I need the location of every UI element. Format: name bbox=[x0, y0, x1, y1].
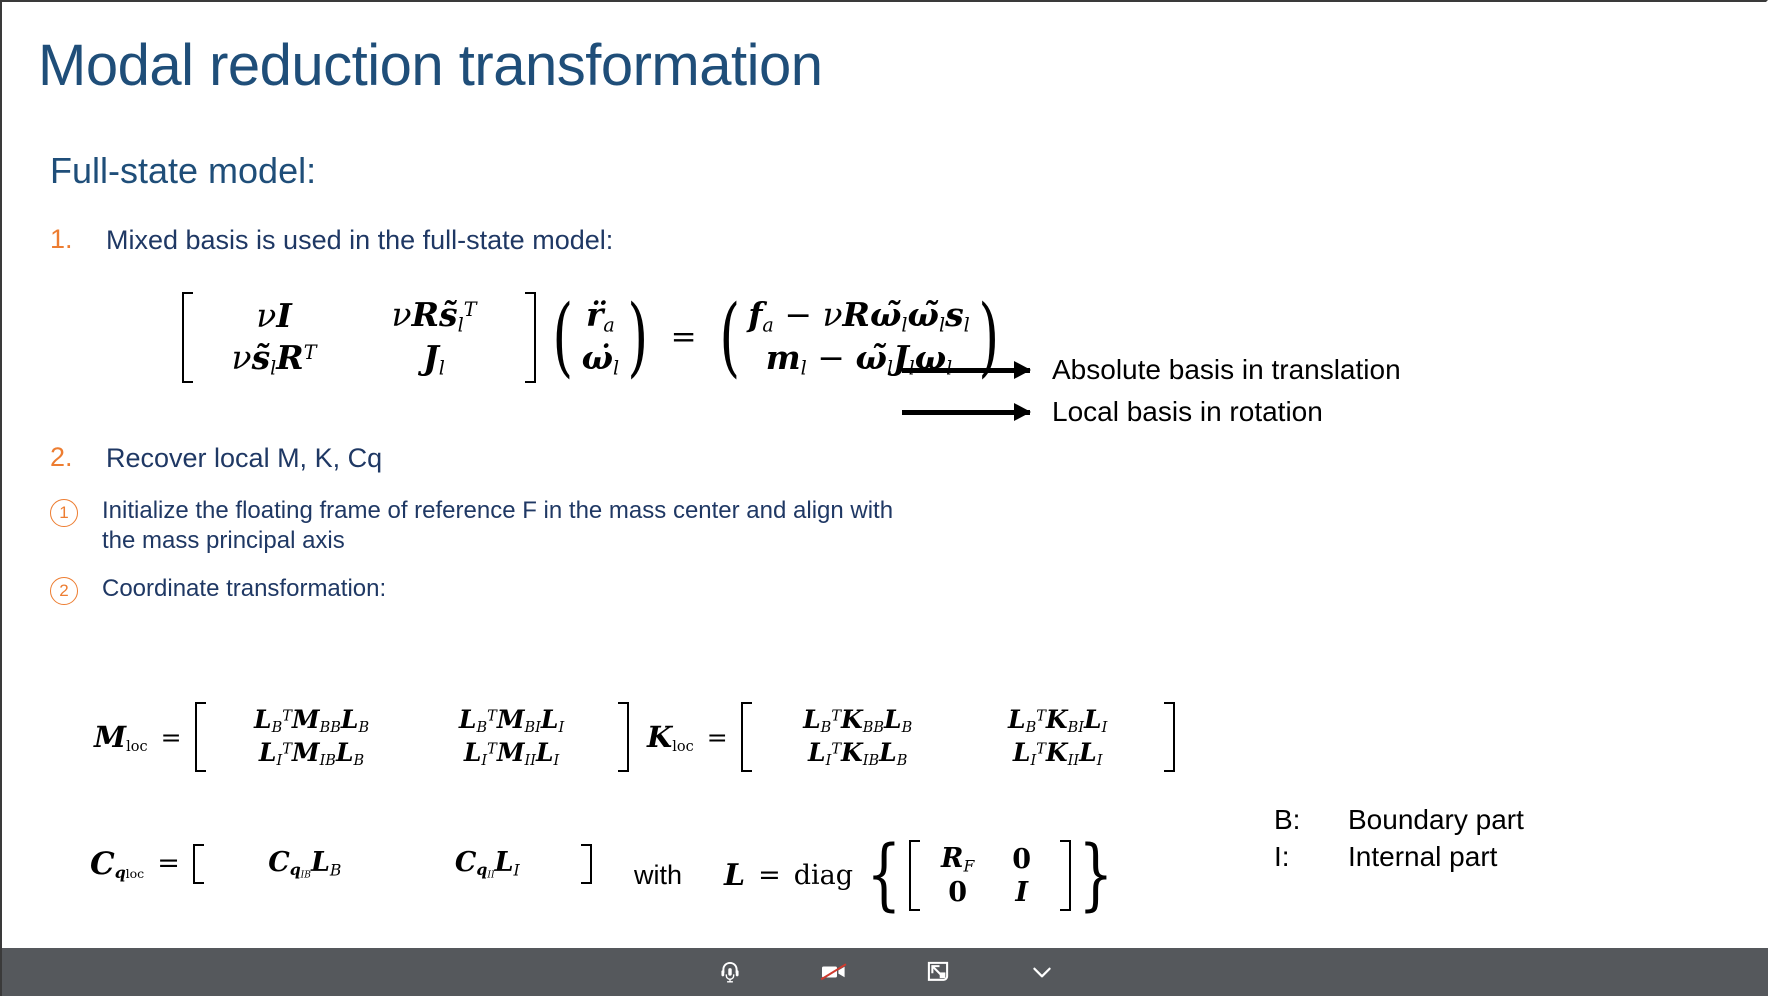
l-cell-01: 0 bbox=[990, 843, 1054, 876]
brace-right: } bbox=[1078, 844, 1113, 906]
presentation-slide: Modal reduction transformation Full-stat… bbox=[0, 0, 1768, 996]
k-equals-sign: = bbox=[707, 723, 728, 752]
bullet-item-2: 2. Recover local M, K, Cq bbox=[50, 442, 382, 475]
callout-label-1: Absolute basis in translation bbox=[1052, 354, 1401, 386]
matrix-cell-10: νs̃lRT bbox=[199, 337, 349, 380]
constraint-matrix-equation: Cqloc = CqIBLB CqIILI bbox=[90, 844, 592, 884]
m-cell-10: LITMIBLB bbox=[212, 737, 412, 770]
legend-key-b: B: bbox=[1274, 802, 1348, 839]
legend-key-i: I: bbox=[1274, 839, 1348, 876]
stiffness-matrix-equation: Kloc = LBTKBBLB LBTKBILI LITKIBLB bbox=[647, 702, 1175, 772]
main-equation: νI νRs̃lT νs̃lRT Jl ( bbox=[182, 292, 1005, 383]
bullet-item-1: 1. Mixed basis is used in the full-state… bbox=[50, 224, 613, 257]
matrix-cell-01: νRs̃lT bbox=[349, 294, 519, 337]
m-matrix: LBTMBBLB LBTMBILI LITMIBLB LITMIILI bbox=[195, 702, 629, 772]
sub-bullet-item-2: 2 Coordinate transformation: bbox=[50, 574, 386, 605]
bracket-left bbox=[193, 844, 204, 884]
legend-value-b: Boundary part bbox=[1348, 802, 1524, 839]
k-matrix: LBTKBBLB LBTKBILI LITKIBLB LITKIILI bbox=[741, 702, 1175, 772]
k-cell-00: LBTKBBLB bbox=[758, 704, 958, 737]
bracket-left bbox=[909, 840, 920, 911]
sub-bullet-text-1: Initialize the floating frame of referen… bbox=[102, 496, 932, 556]
sub-bullet-item-1: 1 Initialize the floating frame of refer… bbox=[50, 496, 932, 556]
paren-left-rhs: ( bbox=[719, 294, 740, 381]
bullet-text-1: Mixed basis is used in the full-state mo… bbox=[106, 224, 613, 257]
cq-equals-sign: = bbox=[157, 848, 180, 879]
l-cell-10: 0 bbox=[926, 876, 990, 909]
rhs-cell-0: fa − νRω̃lω̃lsl bbox=[748, 294, 970, 337]
section-heading: Full-state model: bbox=[50, 150, 316, 192]
circled-number-1: 1 bbox=[50, 496, 102, 527]
chevron-down-icon[interactable] bbox=[1019, 954, 1065, 990]
bracket-left bbox=[741, 702, 752, 772]
callout-label-2: Local basis in rotation bbox=[1052, 396, 1323, 428]
cq-matrix: CqIBLB CqIILI bbox=[193, 844, 592, 884]
cq-loc-symbol: Cqloc bbox=[90, 846, 144, 882]
m-cell-00: LBTMBBLB bbox=[212, 704, 412, 737]
headset-mic-icon[interactable] bbox=[707, 954, 753, 990]
l-definition: L = diag { RF 0 0 I } bbox=[724, 840, 1120, 911]
l-matrix: RF 0 0 I bbox=[909, 840, 1071, 911]
callout-arrow-row-2: Local basis in rotation bbox=[902, 396, 1323, 428]
paren-right: ) bbox=[627, 294, 648, 381]
m-cell-01: LBTMBILI bbox=[412, 704, 612, 737]
brace-left: { bbox=[866, 844, 901, 906]
circled-number-1-glyph: 1 bbox=[50, 499, 78, 527]
right-arrow-icon bbox=[902, 368, 1030, 373]
legend: B: Boundary part I: Internal part bbox=[1274, 802, 1524, 876]
equals-sign: = bbox=[671, 319, 697, 355]
acceleration-vector: ( r̈a ω̇l ) bbox=[546, 294, 655, 381]
restore-window-icon[interactable] bbox=[915, 954, 961, 990]
bracket-right bbox=[525, 292, 536, 383]
bullet-text-2: Recover local M, K, Cq bbox=[106, 442, 382, 475]
bracket-right bbox=[1060, 840, 1071, 911]
bullet-number-1: 1. bbox=[50, 224, 106, 255]
paren-left: ( bbox=[552, 294, 573, 381]
k-cell-01: LBTKBILI bbox=[958, 704, 1158, 737]
bullet-number-2: 2. bbox=[50, 442, 106, 473]
cq-cell-0: CqIBLB bbox=[210, 846, 400, 882]
matrix-cell-00: νI bbox=[199, 295, 349, 336]
k-cell-10: LITKIBLB bbox=[758, 737, 958, 770]
k-cell-11: LITKIILI bbox=[958, 737, 1158, 770]
camera-off-icon[interactable] bbox=[811, 954, 857, 990]
sub-bullet-text-2: Coordinate transformation: bbox=[102, 574, 386, 604]
circled-number-2: 2 bbox=[50, 574, 102, 605]
callout-arrow-row-1: Absolute basis in translation bbox=[902, 354, 1401, 386]
with-label: with bbox=[634, 860, 682, 891]
meeting-toolbar bbox=[2, 948, 1768, 996]
coefficient-matrix: νI νRs̃lT νs̃lRT Jl bbox=[182, 292, 536, 383]
vector-cell-1: ω̇l bbox=[582, 337, 620, 380]
bracket-left bbox=[182, 292, 193, 383]
bracket-right bbox=[581, 844, 592, 884]
m-equals-sign: = bbox=[161, 723, 182, 752]
mass-matrix-equation: Mloc = LBTMBBLB LBTMBILI LITMIBLB bbox=[94, 702, 629, 772]
bracket-left bbox=[195, 702, 206, 772]
page-title: Modal reduction transformation bbox=[38, 32, 823, 99]
legend-value-i: Internal part bbox=[1348, 839, 1497, 876]
k-loc-symbol: Kloc bbox=[647, 720, 694, 755]
l-equals-sign: = bbox=[758, 860, 781, 891]
with-definition-block: with L = diag { RF 0 0 I bbox=[634, 840, 1120, 911]
right-arrow-icon bbox=[902, 410, 1030, 415]
bracket-right bbox=[1164, 702, 1175, 772]
matrix-cell-11: Jl bbox=[349, 337, 519, 380]
l-cell-11: I bbox=[990, 876, 1054, 909]
legend-row-internal: I: Internal part bbox=[1274, 839, 1524, 876]
bracket-right bbox=[618, 702, 629, 772]
m-loc-symbol: Mloc bbox=[94, 720, 148, 755]
l-cell-00: RF bbox=[926, 842, 990, 876]
diag-operator: diag bbox=[794, 860, 853, 891]
legend-row-boundary: B: Boundary part bbox=[1274, 802, 1524, 839]
l-symbol: L bbox=[724, 858, 745, 893]
vector-cell-0: r̈a bbox=[582, 294, 620, 337]
circled-number-2-glyph: 2 bbox=[50, 577, 78, 605]
m-cell-11: LITMIILI bbox=[412, 737, 612, 770]
cq-cell-1: CqIILI bbox=[400, 846, 575, 882]
